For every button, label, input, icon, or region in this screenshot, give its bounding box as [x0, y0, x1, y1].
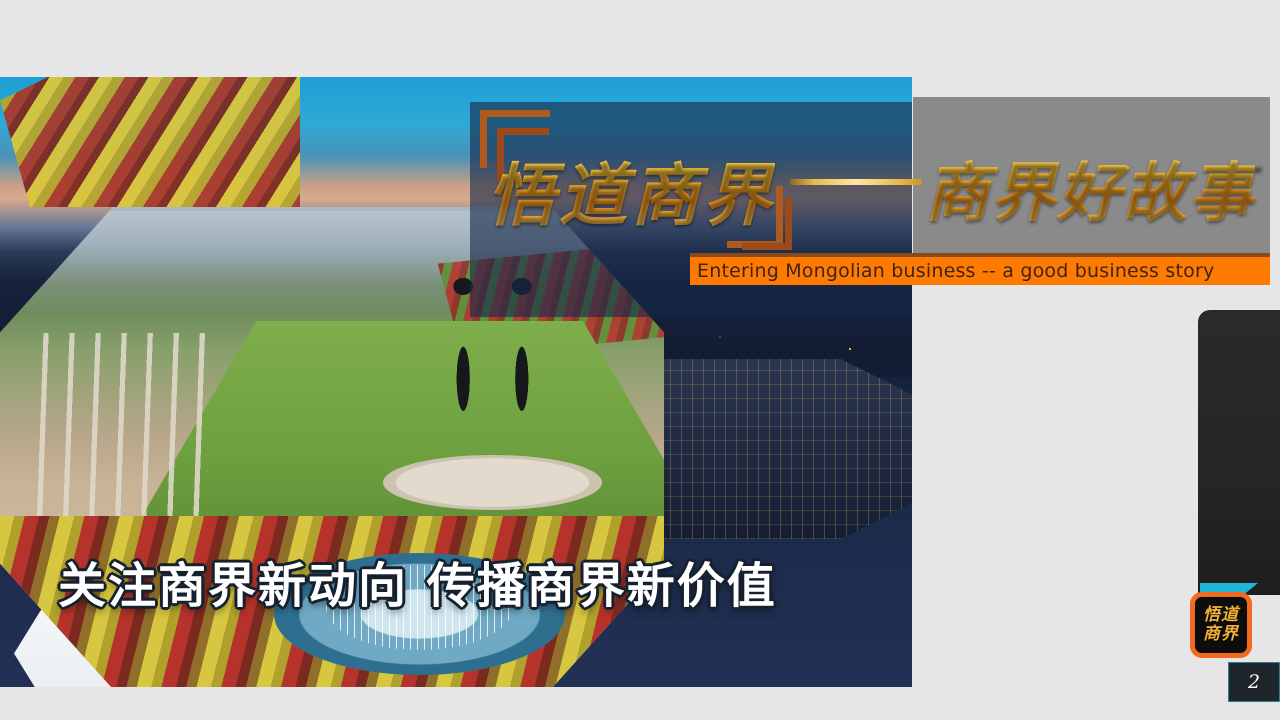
slogan-text: 关注商界新动向 传播商界新价值: [58, 546, 777, 616]
gold-divider-line: [790, 179, 922, 185]
page-number-badge: 2: [1228, 662, 1280, 702]
tile-flowerbed-pattern: [0, 77, 300, 207]
slide-canvas: 悟道商界 商界好故事 Entering Mongolian business -…: [0, 0, 1280, 720]
title-main-right: 商界好故事: [925, 142, 1255, 234]
page-number: 2: [1248, 671, 1260, 693]
brand-logo-box[interactable]: 悟道 商界: [1190, 592, 1252, 658]
plaza-colonnade: [36, 333, 401, 540]
sidebar-panel: [1198, 310, 1280, 595]
brand-logo-text: 悟道 商界: [1203, 606, 1239, 644]
title-main-left: 悟道商界: [487, 140, 775, 239]
subtitle-text: Entering Mongolian business -- a good bu…: [697, 258, 1267, 284]
brand-logo-line1: 悟道: [1203, 605, 1239, 625]
brand-logo-line2: 商界: [1203, 624, 1239, 644]
